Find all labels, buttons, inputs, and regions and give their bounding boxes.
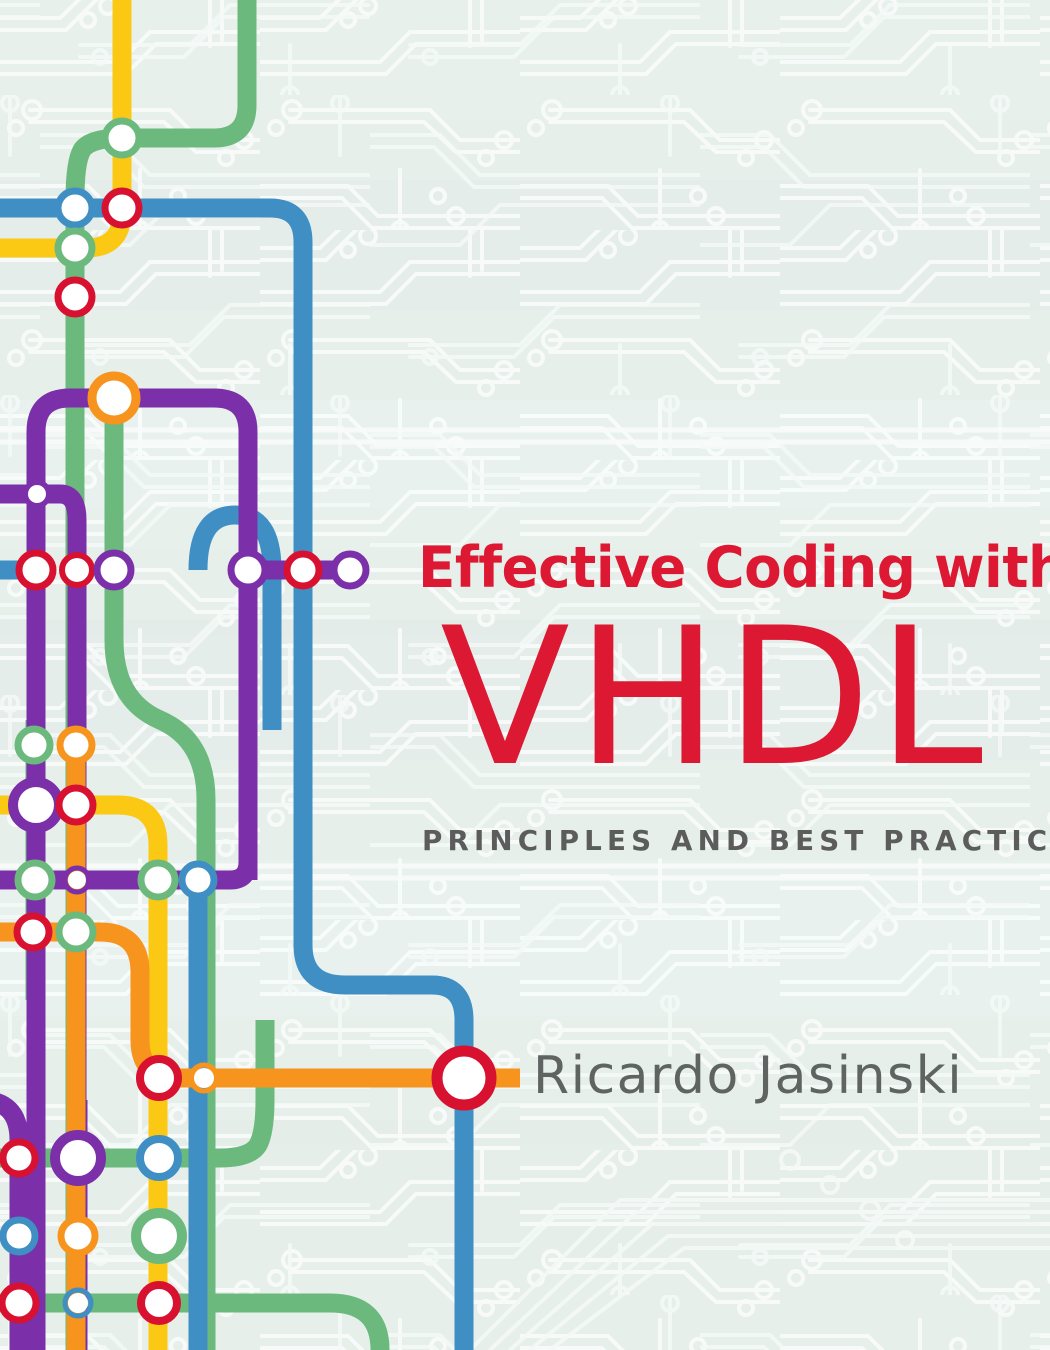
station-red-1078: [140, 1059, 178, 1097]
station-orange-745: [60, 729, 92, 761]
station-green-880b: [141, 863, 175, 897]
station-red-932: [17, 916, 49, 948]
station-blue-1158: [140, 1139, 178, 1177]
metro-map-graphic: [0, 0, 1050, 1350]
station-green-mid: [58, 231, 92, 265]
station-purple-1158: [55, 1135, 101, 1181]
station-red-1158: [3, 1142, 35, 1174]
station-red-805: [59, 788, 93, 822]
station-orange-1236: [61, 1219, 95, 1253]
station-orange-1078: [191, 1065, 217, 1091]
station-red-row-c: [287, 554, 319, 586]
station-red-left: [58, 280, 92, 314]
station-white-880: [65, 868, 89, 892]
station-blue-upper: [58, 191, 92, 225]
station-green-top: [105, 121, 139, 155]
station-blue-880: [182, 864, 214, 896]
station-blue-1303: [65, 1290, 91, 1316]
station-green-1236: [136, 1213, 182, 1259]
station-green-932: [59, 915, 93, 949]
station-purple-end: [334, 554, 366, 586]
station-purple-large: [13, 782, 59, 828]
station-red-1303: [2, 1286, 36, 1320]
station-purple-row-c: [231, 553, 265, 587]
station-red-row-a: [19, 553, 53, 587]
station-blue-1236: [3, 1220, 35, 1252]
station-red-1303b: [141, 1285, 177, 1321]
station-orange-top: [92, 376, 136, 420]
station-green-745: [18, 729, 50, 761]
station-purple-row: [97, 553, 131, 587]
station-red-upper: [105, 191, 139, 225]
book-cover: Effective Coding with VHDL PRINCIPLES AN…: [0, 0, 1050, 1350]
station-red-row-b: [62, 555, 92, 585]
station-green-880: [18, 863, 52, 897]
station-red-large-1078: [437, 1051, 491, 1105]
station-purple-small: [25, 482, 49, 506]
